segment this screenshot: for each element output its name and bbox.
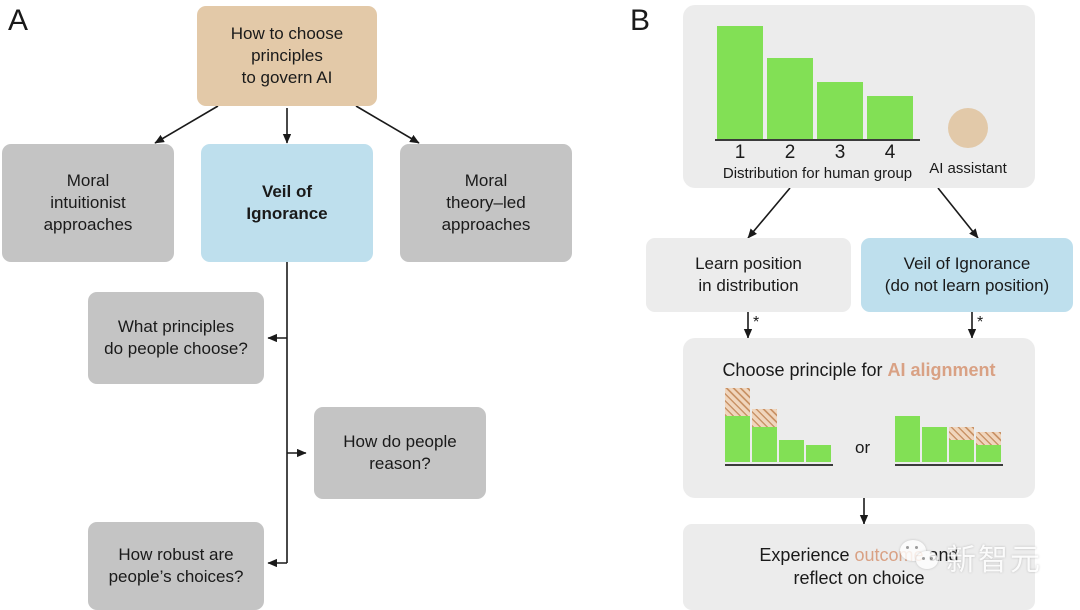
bar-1 [717, 26, 763, 139]
node-line: reflect on choice [759, 567, 958, 590]
node-line: intuitionist [44, 192, 133, 214]
node-how-do-people-reason: How do people reason? [314, 407, 486, 499]
bar-2 [767, 58, 813, 139]
bar-3 [949, 440, 974, 462]
node-line: Veil of [246, 181, 327, 203]
node-line: Moral [442, 170, 531, 192]
chart-tick-labels: 1 2 3 4 [717, 142, 919, 164]
bar-1-hatched-cap [725, 388, 750, 416]
node-line: in distribution [695, 275, 802, 297]
node-line: Experience outcome and [759, 544, 958, 567]
node-learn-position-in-distribution: Learn position in distribution [646, 238, 851, 312]
bar-4 [867, 96, 913, 139]
node-line: How do people [343, 431, 456, 453]
node-veil-of-ignorance-do-not-learn-position: Veil of Ignorance (do not learn position… [861, 238, 1073, 312]
bar-1 [895, 416, 920, 462]
bar-2 [752, 427, 777, 462]
node-line: Learn position [695, 253, 802, 275]
footnote-asterisk-left: * [753, 314, 759, 332]
bar-2-hatched-cap [752, 409, 777, 427]
node-line: people’s choices? [109, 566, 244, 588]
node-line: (do not learn position) [885, 275, 1049, 297]
node-line: reason? [343, 453, 456, 475]
group-distribution-and-assistant: 1 2 3 4 Distribution for human group AI … [683, 5, 1035, 188]
node-line: principles [231, 45, 343, 67]
choose-principle-prefix: Choose principle for [722, 360, 887, 380]
node-line: How to choose [231, 23, 343, 45]
node-how-to-choose-principles: How to choose principles to govern AI [197, 6, 377, 106]
bar-3 [779, 440, 804, 462]
node-line: What principles [104, 316, 248, 338]
bar-4-hatched-cap [976, 432, 1001, 445]
node-line: theory–led [442, 192, 531, 214]
chart-axis-line [715, 139, 920, 141]
chart-choose-principle-option-right [895, 388, 1003, 462]
tick-label: 4 [867, 142, 913, 164]
tick-label: 3 [817, 142, 863, 164]
ai-alignment-accent: AI alignment [888, 360, 996, 380]
chart-axis-line-right [895, 464, 1003, 466]
bar-3 [817, 82, 863, 139]
node-line: do people choose? [104, 338, 248, 360]
node-veil-of-ignorance: Veil of Ignorance [201, 144, 373, 262]
caption-distribution-for-human-group: Distribution for human group [715, 165, 920, 182]
chart-choose-principle-option-left [725, 388, 833, 462]
chart-axis-line-left [725, 464, 833, 466]
node-what-principles-do-people-choose: What principles do people choose? [88, 292, 264, 384]
tick-label: 1 [717, 142, 763, 164]
panel-a-letter: A [8, 4, 29, 38]
bar-3-hatched-cap [949, 427, 974, 440]
node-line: Ignorance [246, 203, 327, 225]
node-line: Veil of Ignorance [885, 253, 1049, 275]
caption-ai-assistant: AI assistant [928, 160, 1008, 177]
chart-distribution-for-human-group [715, 17, 920, 139]
footnote-asterisk-right: * [977, 314, 983, 332]
node-line: to govern AI [231, 67, 343, 89]
outcome-accent: outcome [854, 545, 923, 565]
tick-label: 2 [767, 142, 813, 164]
node-line: How robust are [109, 544, 244, 566]
node-line: approaches [442, 214, 531, 236]
node-moral-intuitionist-approaches: Moral intuitionist approaches [2, 144, 174, 262]
bar-4 [976, 445, 1001, 462]
choose-principle-title: Choose principle for AI alignment [683, 360, 1035, 381]
or-label: or [855, 438, 870, 458]
outcome-suffix: and [924, 545, 959, 565]
node-line: approaches [44, 214, 133, 236]
ai-assistant-circle [948, 108, 988, 148]
panel-b-letter: B [630, 4, 651, 38]
group-choose-principle: Choose principle for AI alignment or [683, 338, 1035, 498]
bar-1 [725, 416, 750, 462]
bar-2 [922, 427, 947, 462]
bar-4 [806, 445, 831, 462]
node-how-robust-are-peoples-choices: How robust are people’s choices? [88, 522, 264, 610]
node-experience-outcome-and-reflect: Experience outcome and reflect on choice [683, 524, 1035, 610]
figure-root: A How to choose principles to govern AI … [0, 0, 1080, 610]
node-line: Moral [44, 170, 133, 192]
node-moral-theory-led-approaches: Moral theory–led approaches [400, 144, 572, 262]
outcome-prefix: Experience [759, 545, 854, 565]
